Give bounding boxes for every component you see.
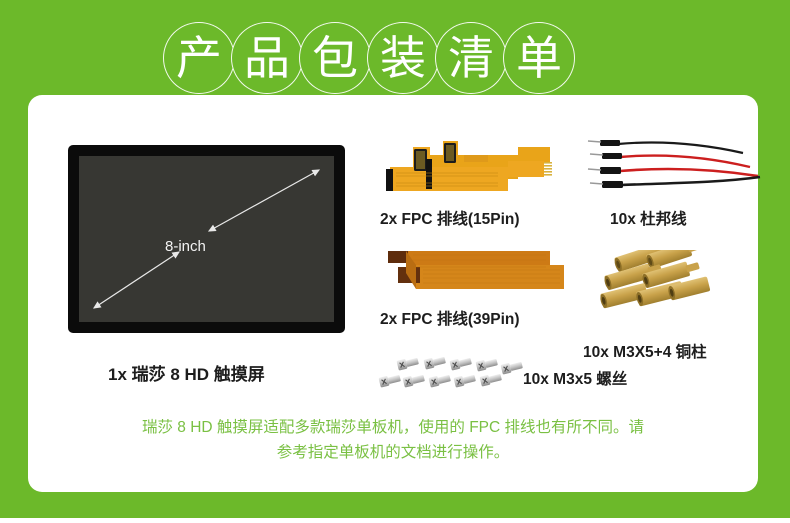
title-char-5: 清 (448, 35, 494, 81)
footer-note-line-2: 参考指定单板机的文档进行操作。 (56, 440, 730, 465)
screen-size-label: 8-inch (165, 238, 206, 255)
caption-screws: 10x M3x5 螺丝 (523, 367, 627, 389)
fpc-ribbon-cable-icon-39pin (378, 243, 568, 303)
screen-surface: 8-inch (79, 156, 334, 322)
brass-standoff-icon (596, 250, 716, 330)
title-banner: 产 品 包 装 清 单 (0, 0, 790, 96)
screen-bezel: 8-inch (68, 145, 345, 333)
footer-note: 瑞莎 8 HD 触摸屏适配多款瑞莎单板机，使用的 FPC 排线也有所不同。请 参… (56, 415, 730, 465)
title-char-3: 包 (312, 35, 358, 81)
caption-touchscreen: 1x 瑞莎 8 HD 触摸屏 (108, 360, 265, 385)
title-char-circle-6: 单 (503, 22, 575, 94)
title-char-circle-1: 产 (163, 22, 235, 94)
dupont-wire-icon (568, 135, 768, 197)
title-char-circle-3: 包 (299, 22, 371, 94)
touchscreen-display-icon: 8-inch (68, 145, 358, 345)
caption-fpc-15pin: 2x FPC 排线(15Pin) (380, 207, 520, 229)
title-char-4: 装 (380, 35, 426, 81)
diagonal-measure-arrow (79, 156, 334, 322)
title-char-circle-4: 装 (367, 22, 439, 94)
bottom-white-strip (0, 518, 790, 523)
product-package-list-page: 产 品 包 装 清 单 (0, 0, 790, 523)
title-char-circle-2: 品 (231, 22, 303, 94)
title-char-2: 品 (244, 35, 290, 81)
caption-dupont-wires: 10x 杜邦线 (610, 207, 687, 229)
fpc-ribbon-cable-icon-15pin (368, 133, 573, 203)
footer-note-line-1: 瑞莎 8 HD 触摸屏适配多款瑞莎单板机，使用的 FPC 排线也有所不同。请 (56, 415, 730, 440)
title-char-6: 单 (516, 35, 562, 81)
caption-brass-standoffs: 10x M3X5+4 铜柱 (583, 340, 707, 362)
content-panel: 8-inch 1x 瑞莎 8 HD 触摸屏 (28, 95, 758, 492)
title-char-1: 产 (176, 35, 222, 81)
caption-fpc-39pin: 2x FPC 排线(39Pin) (380, 307, 520, 329)
title-circle-row: 产 品 包 装 清 单 (163, 22, 571, 94)
screw-icon (378, 357, 523, 397)
title-char-circle-5: 清 (435, 22, 507, 94)
